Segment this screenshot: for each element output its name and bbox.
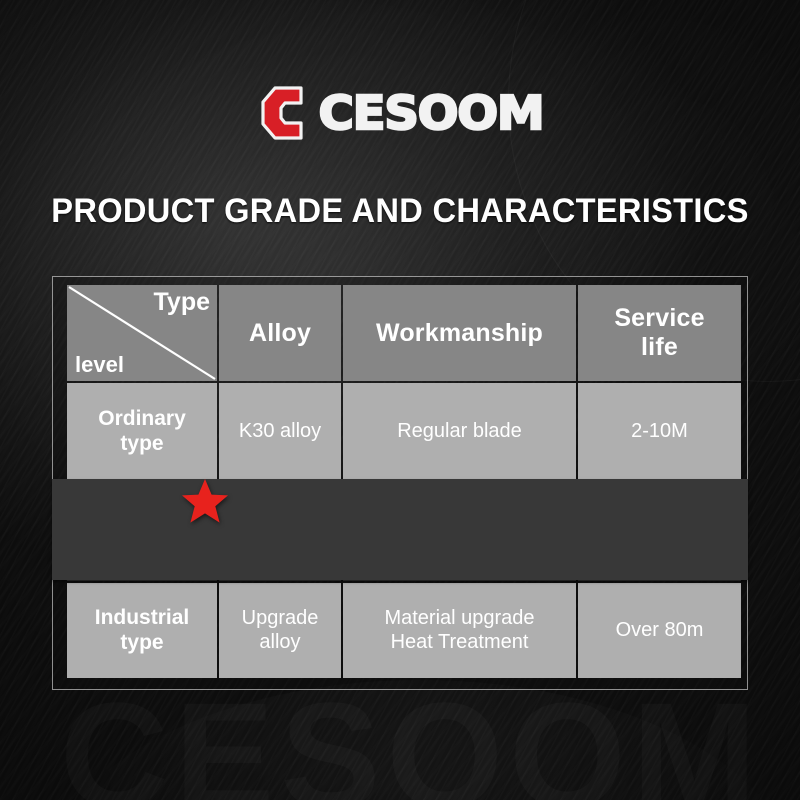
page-title: PRODUCT GRADE AND CHARACTERISTICS bbox=[16, 192, 784, 231]
row-industrial-workmanship-line1: Material upgrade bbox=[347, 607, 572, 630]
highlight-row-bleed bbox=[52, 479, 748, 580]
row-industrial-workmanship-line2: Heat Treatment bbox=[347, 631, 572, 654]
row-ordinary-service-life: 2-10M bbox=[578, 383, 741, 480]
row-ordinary-level-line1: Ordinary bbox=[71, 407, 213, 431]
row-industrial-service-life: Over 80m bbox=[578, 583, 741, 678]
header-cell-workmanship: Workmanship bbox=[343, 285, 576, 381]
corner-level-label: level bbox=[75, 352, 124, 378]
table-row: Industrial type Upgrade alloy Material u… bbox=[67, 583, 741, 678]
table-row: Ordinary type K30 alloy Regular blade 2-… bbox=[67, 383, 741, 480]
table-corner-cell: Type level bbox=[67, 285, 217, 381]
row-ordinary-alloy: K30 alloy bbox=[219, 383, 341, 480]
row-industrial-level-line2: type bbox=[71, 631, 213, 655]
row-industrial-alloy-line1: Upgrade bbox=[223, 607, 337, 630]
row-ordinary-level-line2: type bbox=[71, 432, 213, 456]
header-service-life-line1: Service bbox=[582, 304, 737, 333]
row-ordinary-level: Ordinary type bbox=[67, 383, 217, 480]
row-industrial-level: Industrial type bbox=[67, 583, 217, 678]
row-industrial-level-line1: Industrial bbox=[71, 606, 213, 630]
brand-wordmark: CESOOM bbox=[319, 90, 544, 136]
header-cell-service-life: Service life bbox=[578, 285, 741, 381]
row-ordinary-workmanship: Regular blade bbox=[343, 383, 576, 480]
corner-type-label: Type bbox=[154, 288, 211, 317]
row-industrial-alloy-line2: alloy bbox=[223, 631, 337, 654]
row-industrial-alloy: Upgrade alloy bbox=[219, 583, 341, 678]
header-service-life-line2: life bbox=[582, 333, 737, 362]
hexagon-c-logo-icon bbox=[261, 86, 317, 140]
poster-canvas: CESOOM CESOOM PRODUCT GRADE AND CHARACTE… bbox=[0, 0, 800, 800]
row-industrial-workmanship: Material upgrade Heat Treatment bbox=[343, 583, 576, 678]
brand-logo: CESOOM bbox=[0, 84, 800, 142]
header-cell-alloy: Alloy bbox=[219, 285, 341, 381]
table-header-row: Type level Alloy Workmanship Service lif… bbox=[67, 285, 741, 381]
